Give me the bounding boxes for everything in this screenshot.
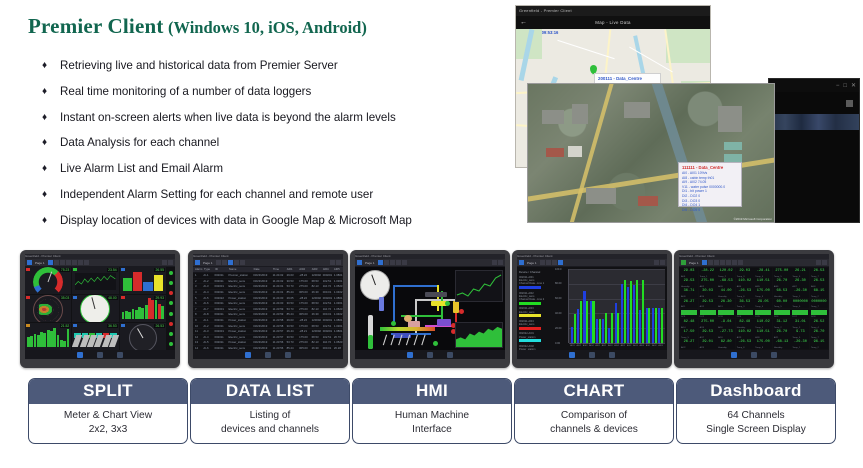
alarm-icon[interactable] [498, 260, 503, 265]
datalist-column-header[interactable]: Date [252, 267, 271, 272]
dashboard-value: -68.13 [773, 340, 791, 344]
chart-bar-group[interactable] [608, 271, 613, 343]
bullet-diamond-icon: ♦ [42, 108, 60, 127]
dashboard-cell[interactable]: 26.21Temp_6 [791, 268, 809, 278]
chart-bar-group[interactable] [577, 271, 582, 343]
dashboard-cell[interactable]: DO3 [717, 309, 735, 319]
dashboard-cell[interactable]: 110.51AI05 [754, 278, 772, 288]
chart-bar-group[interactable] [646, 271, 651, 343]
nav-chart-icon[interactable] [407, 352, 413, 358]
chart-y-tick: 40.00 [555, 312, 562, 315]
datalist-column-header[interactable]: Type [202, 267, 213, 272]
page-tab-7[interactable] [738, 260, 743, 265]
export-icon[interactable] [330, 260, 335, 265]
device-thumbnail-row: Greenfield - Premier Client Page 1 [0, 250, 863, 372]
chart-bar-group[interactable] [658, 271, 663, 343]
page-tab-4[interactable] [396, 260, 401, 265]
thumbnail-chart[interactable]: Greenfield - Premier Client Page 1 Devic… [512, 250, 672, 368]
table-cell: 03/23/2019 [251, 335, 270, 339]
dashboard-value: 29.03 [680, 269, 698, 273]
page-tab-7[interactable] [84, 260, 89, 265]
chart-x-tick: 002022-AI04 [614, 343, 619, 349]
split-cell-value: 21.52 [60, 324, 71, 328]
feature-item: ♦Instant on-screen alerts when live data… [42, 108, 502, 134]
page-tab-4[interactable] [66, 260, 71, 265]
dashboard-cell[interactable]: DO8 [810, 309, 828, 319]
dashboard-cell[interactable]: -28.41Temp_4 [754, 268, 772, 278]
chart-bar [586, 301, 588, 343]
channel-tag [121, 324, 125, 327]
alarm-icon[interactable] [822, 260, 827, 265]
dashboard-channel-label: Temp_8 [737, 347, 745, 349]
dashboard-cell[interactable]: -68.53AI03 [717, 278, 735, 288]
satellite-popup-title: 111111 - Data_Centre [682, 165, 738, 170]
split-cell[interactable]: 29.93 [120, 295, 166, 322]
hmi-body[interactable] [355, 267, 505, 350]
dashboard-cell[interactable]: 29.53AI12 [699, 299, 717, 309]
dashboard-cell[interactable]: 26.30AI13 [717, 299, 735, 309]
feature-item-label: Real time monitoring of a number of data… [60, 82, 311, 101]
dashboard-body[interactable]: 29.03AI01-28.22Temp_1120.02Temp_229.03Te… [679, 267, 829, 350]
feature-item-label: Display location of devices with data in… [60, 211, 412, 230]
card-data-list-body: Listing of devices and channels [191, 404, 349, 443]
table-cell: 30.53 [285, 335, 298, 339]
dashboard-toolbar[interactable]: Page 1 [679, 259, 829, 267]
table-cell: 03/23/2019 [251, 324, 270, 328]
dashboard-bottom-nav[interactable] [679, 350, 829, 359]
hmi-toolbar[interactable]: Page 1 [355, 259, 505, 267]
nav-search-icon[interactable] [589, 352, 595, 358]
split-cell[interactable]: 35.03 [25, 295, 71, 322]
table-cell: 68.53 [310, 335, 321, 339]
page-tab-4[interactable] [234, 260, 239, 265]
dashboard-cell[interactable]: 29.03Temp_3 [736, 268, 754, 278]
dashboard-value: 0000000 [810, 300, 828, 304]
datalist-column-header[interactable]: ID [213, 267, 227, 272]
table-cell: 85.24 [285, 312, 298, 316]
nav-devices-icon[interactable] [285, 352, 291, 358]
page-tab-1[interactable] [216, 260, 221, 265]
chart-bar-group[interactable] [621, 271, 626, 343]
table-cell: 175.00 [297, 301, 310, 305]
split-cell[interactable]: 26.55 [120, 267, 166, 294]
dashboard-cell[interactable]: 82.80Humidity [717, 339, 735, 349]
nav-chart-icon[interactable] [77, 352, 83, 358]
dashboard-cell[interactable]: 175.00Temp_9 [754, 339, 772, 349]
chart-bar [605, 313, 607, 343]
chart-bar [596, 319, 598, 343]
dashboard-value: 26.53 [810, 269, 828, 273]
dashboard-cell[interactable]: 9.73Temp_6 [791, 329, 809, 339]
page-tab-4[interactable] [720, 260, 725, 265]
dashboard-cell[interactable]: DO5 [754, 309, 772, 319]
page-tab-3[interactable] [60, 260, 65, 265]
page-tab-1[interactable] [540, 260, 545, 265]
chart-bar-group[interactable] [639, 271, 644, 343]
page-tab-5[interactable] [726, 260, 731, 265]
table-cell: 002011 [213, 312, 227, 316]
dashboard-cell[interactable]: 29.01AI23 [699, 339, 717, 349]
page-tab-5[interactable] [240, 260, 245, 265]
table-cell: 2 [193, 279, 201, 283]
split-cell[interactable]: 21.52 [25, 323, 71, 350]
datalist-column-header[interactable]: Name [227, 267, 252, 272]
dashboard-cell[interactable]: 26.52Temp_4 [810, 319, 828, 329]
minimize-icon[interactable]: − [836, 83, 840, 89]
table-cell: AI-1 [201, 318, 212, 322]
dashboard-value: 96.15 [810, 340, 828, 344]
dashboard-cell[interactable]: -26.53Temp_8 [736, 339, 754, 349]
chart-screen: Greenfield - Premier Client Page 1 Devic… [517, 254, 667, 359]
feature-item: ♦Retrieving live and historical data fro… [42, 56, 502, 82]
datalist-column-header[interactable]: Time [271, 267, 285, 272]
dashboard-cell[interactable]: 175.00Temp_9 [754, 288, 772, 298]
table-cell: AI-2 [201, 324, 212, 328]
chart-legend-swatch [519, 339, 541, 342]
dashboard-channel-label: Temp_9 [755, 347, 763, 349]
table-cell: 68.53 [310, 279, 321, 283]
table-cell: 03/23/2019 [251, 329, 270, 333]
nav-chart-icon[interactable] [569, 352, 575, 358]
dashboard-cell[interactable]: 29.03AI01 [680, 268, 698, 278]
table-cell: Premier_station [226, 273, 251, 277]
split-cell[interactable]: 23.54 [72, 267, 118, 294]
alarm-icon[interactable] [168, 260, 173, 265]
dashboard-cell[interactable]: -9.04AI16 [717, 319, 735, 329]
close-icon[interactable]: ✕ [851, 83, 856, 89]
page-tab-1[interactable] [702, 260, 707, 265]
page-tab-1[interactable] [378, 260, 383, 265]
table-cell: 53.73 [285, 284, 298, 288]
chart-bar-group[interactable] [571, 271, 576, 343]
dashboard-cell[interactable]: 31.01Temp_3 [791, 319, 809, 329]
hmi-gradient-bar [380, 327, 435, 331]
table-cell: AI-2 [201, 279, 212, 283]
chart-bar [615, 303, 617, 343]
channel-tag [121, 268, 125, 271]
split-cell[interactable]: 48.00 [72, 295, 118, 322]
table-cell: Power_station [226, 329, 251, 333]
chart-legend-swatch [519, 302, 541, 305]
channel-tag [73, 296, 77, 299]
dashboard-cell[interactable]: 0000000Temp_7 [810, 299, 828, 309]
nav-search-icon[interactable] [427, 352, 433, 358]
chart-bottom-nav[interactable] [517, 350, 667, 359]
dashboard-cell[interactable]: 31.12Temp_2 [773, 319, 791, 329]
page-tab-6[interactable] [78, 260, 83, 265]
thumbnail-data-list[interactable]: Greenfield - Premier Client Page 1 Alarm… [188, 250, 348, 368]
dashboard-cell[interactable]: -28.22Temp_1 [699, 268, 717, 278]
filter-icon[interactable] [336, 260, 341, 265]
chart-x-tick: 002001-AI03 [633, 343, 638, 349]
page-title-platforms: (Windows 10, iOS, Android) [168, 18, 367, 37]
bullet-diamond-icon: ♦ [42, 56, 60, 75]
card-data-list-line-2: devices and channels [193, 423, 347, 437]
thumbnail-split[interactable]: Greenfield - Premier Client Page 1 [20, 250, 180, 368]
microsoft-map-attribution: ©2019 Microsoft Corporation [734, 217, 772, 221]
chart-bar [602, 319, 604, 343]
datalist-column-header[interactable]: Alarm [193, 267, 202, 272]
table-cell: 03/23/2019 [251, 318, 270, 322]
dashboard-cell[interactable]: 44.00Humidity [717, 288, 735, 298]
settings-icon[interactable] [162, 260, 167, 265]
datalist-bottom-nav[interactable] [193, 350, 343, 359]
dashboard-cell[interactable]: 275.00AI15 [699, 319, 717, 329]
dashboard-cell[interactable]: 82.48Humidity [736, 319, 754, 329]
split-grid: 75.23 23.54 [25, 267, 175, 350]
dashboard-cell[interactable]: 68.15Temp_2 [810, 288, 828, 298]
dashboard-cell[interactable]: 110.51AI20 [754, 329, 772, 339]
nav-search-icon[interactable] [751, 352, 757, 358]
dashboard-cell[interactable]: 0000000Temp_6 [791, 299, 809, 309]
dashboard-cell[interactable]: 26.27AI11 [680, 299, 698, 309]
microsoft-map-screenshot[interactable]: 111111 - Data_Centre AI0 - AI01 10%/sAI8… [527, 83, 775, 223]
split-cell[interactable]: 26.53 [120, 323, 166, 350]
window-thumb-icon [846, 100, 853, 107]
table-cell: AI-1 [201, 273, 212, 277]
nav-devices-icon[interactable] [609, 352, 615, 358]
card-hmi-line-2: Interface [355, 423, 509, 437]
nav-devices-icon[interactable] [771, 352, 777, 358]
page-tab-2[interactable] [54, 260, 59, 265]
thumbnail-dashboard[interactable]: Greenfield - Premier Client Page 1 29.03… [674, 250, 834, 368]
chart-x-tick: 002022-AI03 [608, 343, 613, 349]
table-cell: 03/23/2019 [251, 301, 270, 305]
home-icon[interactable] [519, 260, 524, 265]
page-tab-3[interactable] [714, 260, 719, 265]
dashboard-cell[interactable]: 60.00Temp_5 [773, 299, 791, 309]
page-tab-5[interactable] [402, 260, 407, 265]
split-cell[interactable]: 75.23 [25, 267, 71, 294]
nav-search-icon[interactable] [97, 352, 103, 358]
hmi-diagram[interactable] [355, 267, 505, 350]
dashboard-cell[interactable]: 29.05Temp_4 [754, 299, 772, 309]
dashboard-cell[interactable]: 275.00AI02 [699, 278, 717, 288]
datalist-rows[interactable]: 1AI-1002011Premier_station03/23/201911:2… [193, 273, 343, 359]
card-data-list-line-1: Listing of [193, 409, 347, 423]
page-tab-2[interactable] [546, 260, 551, 265]
dashboard-cell[interactable]: 26.70AI21 [773, 329, 791, 339]
dashboard-cell[interactable]: 120.02Temp_2 [717, 268, 735, 278]
nav-chart-icon[interactable] [245, 352, 251, 358]
dashboard-cell[interactable]: DO1 [680, 309, 698, 319]
dashboard-cell[interactable]: 26.53AI08 [810, 278, 828, 288]
dashboard-cell[interactable]: 96.15Temp_2 [810, 339, 828, 349]
home-icon[interactable] [681, 260, 686, 265]
dashboard-value: 68.15 [810, 289, 828, 293]
bar-chart-icon [27, 325, 69, 347]
card-hmi[interactable]: HMI Human Machine Interface [352, 378, 512, 444]
chart-y-tick: 100.0 [555, 268, 562, 271]
dashboard-cell[interactable]: 110.02AI19 [736, 329, 754, 339]
bullet-diamond-icon: ♦ [42, 159, 60, 178]
hmi-bottom-nav[interactable] [355, 350, 505, 359]
table-cell: 1.0402 [332, 312, 343, 316]
datalist-toolbar[interactable]: Page 1 [193, 259, 343, 267]
dashboard-value: 110.51 [754, 279, 772, 283]
dashboard-cell[interactable]: 29.53Humidity [680, 278, 698, 288]
datalist-column-header[interactable]: AI03 [310, 267, 321, 272]
dashboard-value: 26.70 [810, 330, 828, 334]
dashboard-cell[interactable]: 26.70Temp_7 [810, 329, 828, 339]
dashboard-cell[interactable]: DO7 [791, 309, 809, 319]
table-cell: 11:23:58 [271, 324, 285, 328]
dashboard-value: 36.53 [736, 300, 754, 304]
dashboard-value: 17.50 [680, 330, 698, 334]
table-cell: 175.00 [297, 324, 310, 328]
chart-bar-group[interactable] [590, 271, 595, 343]
chart-bar-group[interactable] [627, 271, 632, 343]
table-cell: Electric_sens [226, 324, 251, 328]
card-dashboard[interactable]: Dashboard 64 Channels Single Screen Disp… [676, 378, 836, 444]
page-title-main: Premier Client [28, 14, 164, 38]
chart-bar-group[interactable] [583, 271, 588, 343]
nav-devices-icon[interactable] [447, 352, 453, 358]
table-cell: 29.03 [285, 273, 298, 277]
dashboard-cell[interactable]: 68.53Humidity [773, 288, 791, 298]
page-tab-3[interactable] [390, 260, 395, 265]
chart-bar-group[interactable] [615, 271, 620, 343]
card-data-list[interactable]: DATA LIST Listing of devices and channel… [190, 378, 350, 444]
table-cell: 03/23/2019 [251, 312, 270, 316]
chart-bar [639, 310, 641, 343]
refresh-icon[interactable] [654, 260, 659, 265]
chart-bar-group[interactable] [602, 271, 607, 343]
dashboard-cell[interactable]: DO2 [699, 309, 717, 319]
chart-bar-group[interactable] [652, 271, 657, 343]
chart-legend-title: Device / Channel [519, 270, 566, 274]
split-bottom-nav[interactable] [25, 350, 175, 359]
chart-x-tick: 002011-AI04 [589, 343, 594, 349]
grid-icon[interactable] [816, 260, 821, 265]
chart-bar [633, 285, 635, 343]
dashboard-cell[interactable]: -26.53Temp_8 [736, 288, 754, 298]
dashboard-cell[interactable]: -27.73AI18 [717, 329, 735, 339]
page-tab-3[interactable] [552, 260, 557, 265]
chart-bar [661, 308, 663, 343]
table-cell: 1.0523 [332, 284, 343, 288]
chart-bar-group[interactable] [596, 271, 601, 343]
home-icon[interactable] [195, 260, 200, 265]
dashboard-cell[interactable]: 36.71AI09 [680, 288, 698, 298]
card-dashboard-line-2: Single Screen Display [679, 423, 833, 437]
table-cell: 7 [193, 307, 201, 311]
page-tab-1[interactable] [48, 260, 53, 265]
dashboard-cell[interactable]: 275.00Temp_5 [773, 268, 791, 278]
table-cell: 002011 [213, 279, 227, 283]
dashboard-cell[interactable]: 17.50Temp_5 [680, 329, 698, 339]
zoom-icon[interactable] [492, 260, 497, 265]
dashboard-value: 29.03 [736, 269, 754, 273]
page-tab-4[interactable] [558, 260, 563, 265]
datalist-column-header[interactable]: AI01 [285, 267, 297, 272]
table-cell: 11:24:02 [271, 279, 285, 283]
page-tab-3[interactable] [228, 260, 233, 265]
card-hmi-heading: HMI [353, 379, 511, 404]
dashboard-bar-indicator [811, 310, 827, 315]
dashboard-cell[interactable]: 110.02AI04 [736, 278, 754, 288]
dashboard-cell[interactable]: 82.48AI14 [680, 319, 698, 329]
settings-icon[interactable] [660, 260, 665, 265]
home-icon[interactable] [27, 260, 32, 265]
dashboard-cell[interactable]: 110.02Temp_1 [754, 319, 772, 329]
split-cell-value: 36.53 [107, 324, 118, 328]
table-cell: 102.51 [321, 335, 332, 339]
page-tab-2[interactable] [222, 260, 227, 265]
card-chart[interactable]: CHART Comparison of channels & devices [514, 378, 674, 444]
table-cell: AI-3 [201, 284, 212, 288]
popup-device-title: 200111 - Data_Centre [598, 76, 657, 81]
split-toolbar[interactable]: Page 1 [25, 259, 175, 267]
hmi-page-label: Page 1 [365, 261, 375, 265]
dashboard-value: 29.53 [699, 330, 717, 334]
chart-bar-group[interactable] [633, 271, 638, 343]
home-icon[interactable] [357, 260, 362, 265]
chart-toolbar[interactable]: Page 1 [517, 259, 667, 267]
nav-chart-icon[interactable] [731, 352, 737, 358]
dashboard-value: 26.30 [717, 300, 735, 304]
maximize-icon[interactable]: □ [843, 83, 847, 89]
dashboard-cell[interactable]: 30.03AI10 [699, 288, 717, 298]
dashboard-cell[interactable]: 36.53Temp_3 [736, 299, 754, 309]
datalist-column-header[interactable]: AI04 [321, 267, 332, 272]
table-cell: AI-7 [201, 307, 212, 311]
dashboard-cell[interactable]: -26.30Temp_1 [791, 339, 809, 349]
table-cell: 110.72 [321, 340, 332, 344]
table-cell: 120002 [310, 329, 321, 333]
page-tab-2[interactable] [708, 260, 713, 265]
datalist-body[interactable]: AlarmTypeIDNameDateTimeAI01AI02AI03AI04A… [193, 267, 343, 350]
dashboard-cell[interactable]: 26.30AI07 [791, 278, 809, 288]
table-cell: 000.01 [321, 290, 332, 294]
card-split[interactable]: SPLIT Meter & Chart View 2x2, 3x3 [28, 378, 188, 444]
dashboard-value: 26.21 [791, 269, 809, 273]
dashboard-cell[interactable]: -26.30Temp_1 [791, 288, 809, 298]
dashboard-cell[interactable]: 26.53Temp_7 [810, 268, 828, 278]
nav-devices-icon[interactable] [117, 352, 123, 358]
table-cell: AI-4 [201, 335, 212, 339]
table-cell: 11:23:56 [271, 340, 285, 344]
alarm-led-column [167, 268, 174, 349]
split-cell[interactable]: 36.53 [72, 323, 118, 350]
page-tab-2[interactable] [384, 260, 389, 265]
dashboard-cell[interactable]: 26.70AI06 [773, 278, 791, 288]
thumbnail-hmi[interactable]: Greenfield - Premier Client Page 1 [350, 250, 510, 368]
chart-bar [611, 313, 613, 343]
chart-bar [583, 291, 585, 343]
nav-search-icon[interactable] [265, 352, 271, 358]
card-hmi-body: Human Machine Interface [353, 404, 511, 443]
page-tab-5[interactable] [72, 260, 77, 265]
chart-bar [574, 314, 576, 343]
table-cell: 1.0301 [332, 279, 343, 283]
dashboard-cell[interactable]: -68.13Humidity [773, 339, 791, 349]
dashboard-cell[interactable]: 29.53AI17 [699, 329, 717, 339]
dashboard-cell[interactable]: 26.27AI22 [680, 339, 698, 349]
datalist-column-header[interactable]: AI02 [297, 267, 309, 272]
table-cell: 175.00 [297, 335, 310, 339]
feature-item: ♦Data Analysis for each channel [42, 133, 502, 159]
dashboard-cell[interactable]: DO6 [773, 309, 791, 319]
chart-body[interactable]: Device / Channel 002011-AI01Electric_sen… [517, 267, 667, 350]
chart-x-tick: 002001-AI02 [627, 343, 632, 349]
dashboard-cell[interactable]: DO4 [736, 309, 754, 319]
chart-x-axis: 002011-AI01002011-AI02002011-AI03002011-… [568, 343, 665, 349]
datalist-column-header[interactable]: AI05 [332, 267, 343, 272]
page-tab-6[interactable] [732, 260, 737, 265]
card-dashboard-heading: Dashboard [677, 379, 835, 404]
bullet-diamond-icon: ♦ [42, 82, 60, 101]
